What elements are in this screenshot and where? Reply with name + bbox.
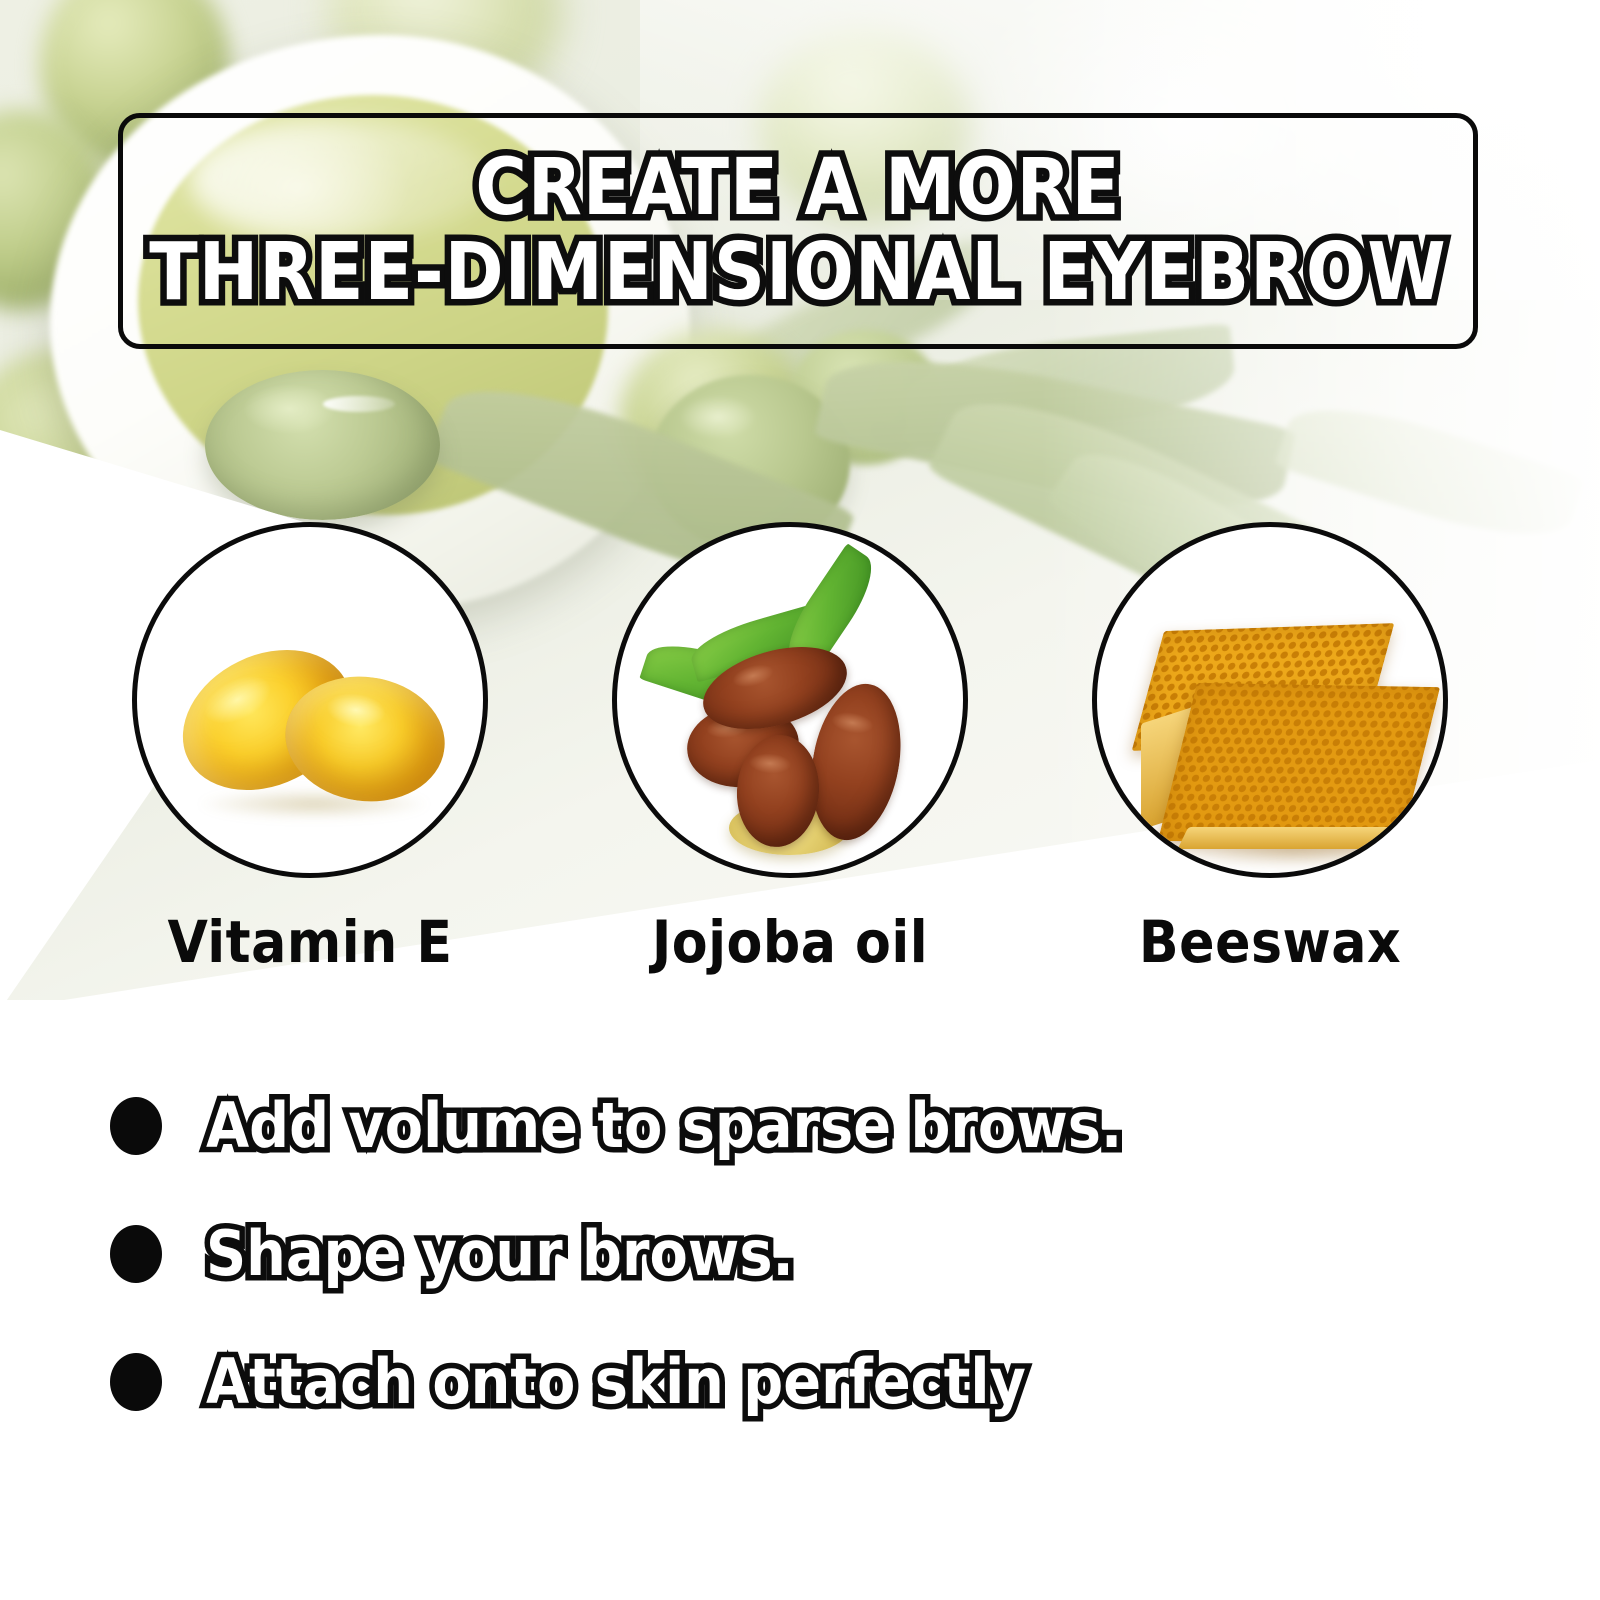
ingredient-circle-jojoba-oil — [612, 522, 968, 878]
honeycomb-beeswax-icon — [1097, 527, 1443, 873]
list-item: Shape your brows. — [110, 1190, 1410, 1318]
honeycomb-slab-icon — [1158, 683, 1440, 845]
ingredient-label-jojoba-oil: Jojoba oil — [612, 908, 968, 976]
honeycomb-edge — [1178, 827, 1421, 849]
benefit-text: Shape your brows. — [206, 1223, 794, 1285]
vitamin-e-capsules-icon — [137, 527, 483, 873]
list-item: Add volume to sparse brows. — [110, 1062, 1410, 1190]
bullet-dot-icon — [110, 1097, 162, 1155]
benefits-list: Add volume to sparse brows. Shape your b… — [110, 1062, 1410, 1446]
list-item: Attach onto skin perfectly — [110, 1318, 1410, 1446]
bullet-dot-icon — [110, 1225, 162, 1283]
bullet-dot-icon — [110, 1353, 162, 1411]
ingredient-label-beeswax: Beeswax — [1092, 908, 1448, 976]
ingredient-circle-beeswax — [1092, 522, 1448, 878]
benefit-text: Attach onto skin perfectly — [206, 1351, 1026, 1413]
infographic-canvas: CREATE A MORE THREE-DIMENSIONAL EYEBROW — [0, 0, 1600, 1600]
jojoba-seeds-icon — [617, 527, 963, 873]
ingredient-circle-vitamin-e — [132, 522, 488, 878]
ingredient-label-vitamin-e: Vitamin E — [132, 908, 488, 976]
benefit-text: Add volume to sparse brows. — [206, 1095, 1122, 1157]
headline-border-box — [118, 113, 1478, 349]
olive-fruit-in-oil — [205, 370, 440, 520]
